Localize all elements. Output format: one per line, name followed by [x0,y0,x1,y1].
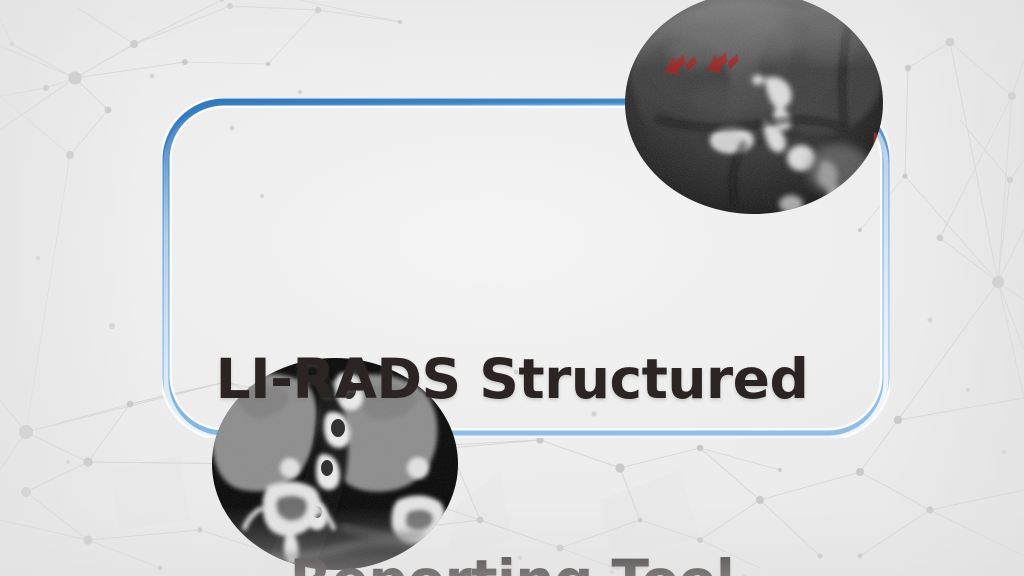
slide-root: LI-RADS Structured Reporting Tool [0,0,1024,576]
title-line-1: LI-RADS Structured [0,346,1024,413]
title-line-2: Reporting Tool [0,547,1024,576]
page-title: LI-RADS Structured Reporting Tool [0,212,1024,576]
image-abdominal-mri [625,0,883,214]
